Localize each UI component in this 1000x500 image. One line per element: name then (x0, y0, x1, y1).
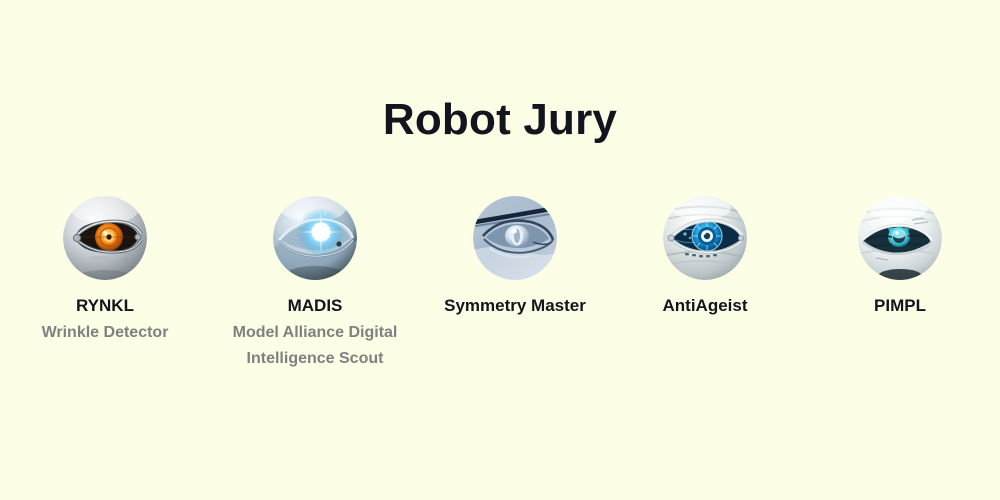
jury-member-name: AntiAgeist (663, 293, 748, 319)
jury-member[interactable]: RYNKL Wrinkle Detector (5, 196, 205, 346)
robot-jury-page: Robot Jury (0, 0, 1000, 500)
robot-eye-icon (663, 196, 747, 280)
jury-member-description: Wrinkle Detector (42, 320, 169, 346)
robot-eye-icon (858, 196, 942, 280)
robot-eye-icon (473, 196, 557, 280)
page-title: Robot Jury (0, 96, 1000, 144)
jury-member[interactable]: PIMPL (805, 196, 995, 319)
jury-member-description: Model Alliance Digital Intelligence Scou… (215, 320, 415, 371)
jury-member[interactable]: MADIS Model Alliance Digital Intelligenc… (205, 196, 425, 372)
jury-member-name: Symmetry Master (444, 293, 586, 319)
jury-member[interactable]: Symmetry Master (425, 196, 605, 319)
robot-eye-icon (63, 196, 147, 280)
jury-member-name: MADIS (288, 293, 343, 319)
jury-member-list: RYNKL Wrinkle Detector (0, 196, 1000, 372)
jury-member[interactable]: AntiAgeist (605, 196, 805, 319)
jury-member-name: PIMPL (874, 293, 926, 319)
robot-eye-icon (273, 196, 357, 280)
jury-member-name: RYNKL (76, 293, 134, 319)
